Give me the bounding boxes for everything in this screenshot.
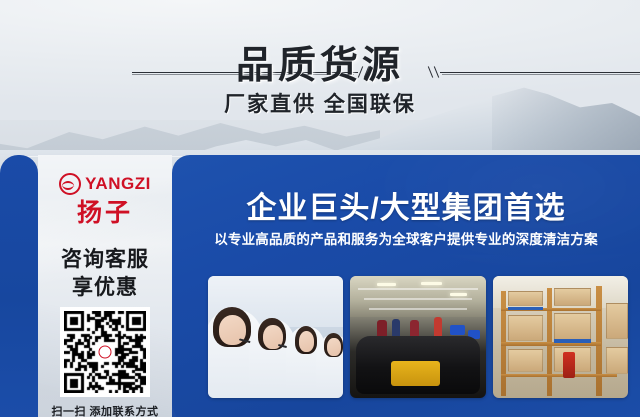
qr-code[interactable] — [64, 311, 146, 393]
card-headline-line2: 享优惠 — [38, 271, 172, 301]
promo-subheadline: 以专业高品质的产品和服务为全球客户提供专业的深度清洁方案 — [172, 228, 640, 248]
brand-chinese-text: 扬子 — [38, 193, 172, 229]
warehouse-logistics-photo — [493, 276, 628, 398]
contact-card: YANGZI 扬子 咨询客服 享优惠 扫一扫 添加联系方式 — [38, 155, 172, 417]
photo-strip — [208, 276, 628, 398]
brand-latin-text: YANGZI — [85, 174, 151, 194]
promo-banner-page: 品质货源 厂家直供 全国联保 YANGZI 扬子 咨询客服 享优惠 扫一扫 添加… — [0, 0, 640, 417]
qr-code-container[interactable] — [60, 307, 150, 397]
blue-panel-left-edge — [0, 155, 38, 417]
hero-banner: 品质货源 厂家直供 全国联保 — [0, 0, 640, 175]
brand-logo: YANGZI — [38, 173, 172, 195]
customer-service-team-photo — [208, 276, 343, 398]
blue-texture-left — [0, 155, 38, 417]
banner-subtitle: 厂家直供 全国联保 — [0, 88, 640, 118]
promo-headline: 企业巨头/大型集团首选 — [172, 183, 640, 227]
factory-assembly-line-photo — [350, 276, 485, 398]
yangzi-circle-wave-icon — [59, 173, 81, 195]
banner-title: 品质货源 — [0, 34, 640, 89]
qr-caption: 扫一扫 添加联系方式 — [38, 403, 172, 417]
qr-center-logo-icon — [96, 343, 115, 362]
card-headline-line1: 咨询客服 — [38, 243, 172, 273]
